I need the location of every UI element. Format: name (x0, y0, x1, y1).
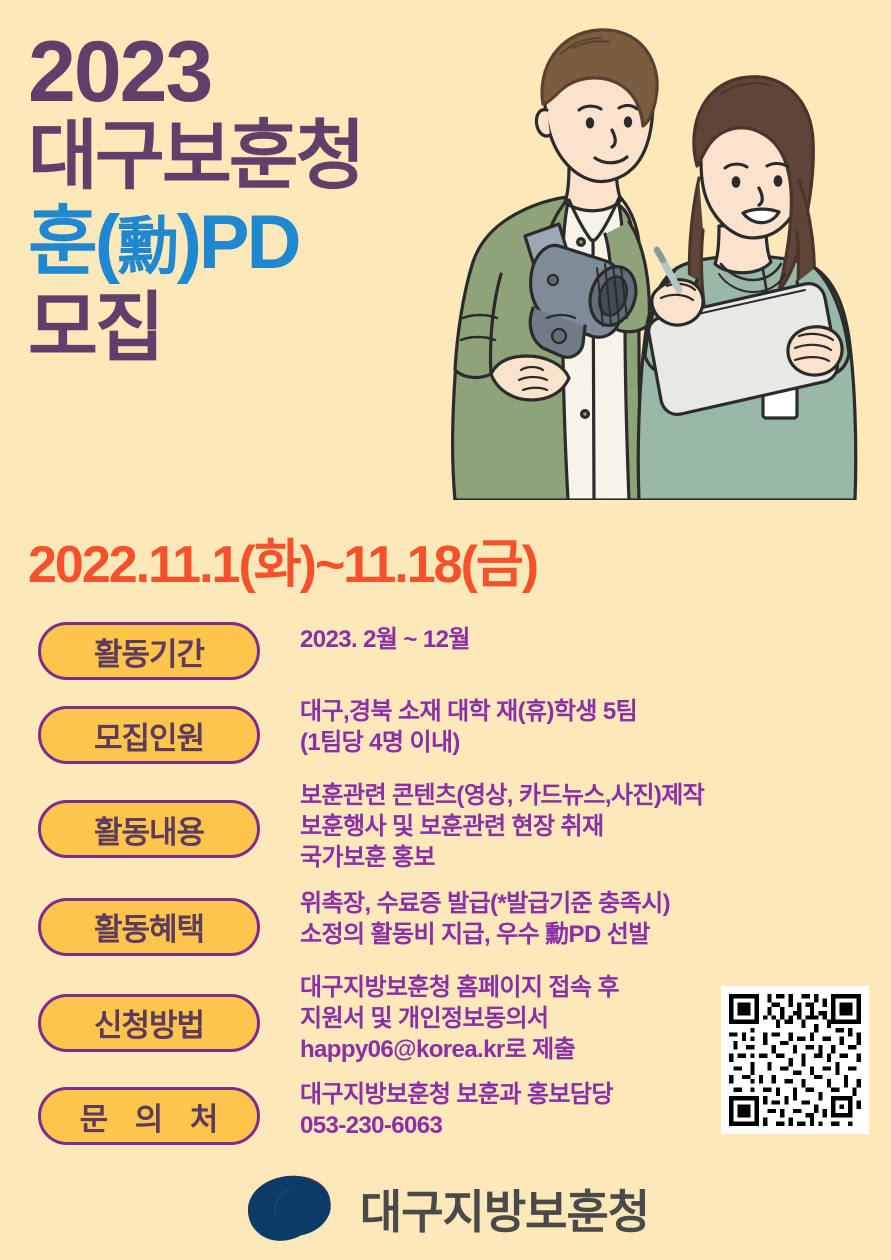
info-row-activities: 활동내용 보훈관련 콘텐츠(영상, 카드뉴스,사진)제작 보훈행사 및 보훈관련… (38, 778, 868, 874)
government-taegeuk-logo (242, 1172, 334, 1246)
footer-organization-name: 대구지방보훈청 (360, 1176, 649, 1242)
pill-label-duration: 활동기간 (38, 622, 260, 680)
footer: 대구지방보훈청 (0, 1172, 891, 1246)
info-line: 보훈관련 콘텐츠(영상, 카드뉴스,사진)제작 (300, 780, 868, 811)
info-line: 보훈행사 및 보훈관련 현장 취재 (300, 811, 868, 842)
info-body-benefits: 위촉장, 수료증 발급(*발급기준 충족시) 소정의 활동비 지급, 우수 勳P… (260, 886, 868, 950)
pill-label-activities: 활동내용 (38, 800, 260, 858)
headline-year: 2023 (28, 30, 548, 114)
info-line: 대구,경북 소재 대학 재(휴)학생 5팀 (300, 696, 868, 727)
info-line: 국가보훈 홍보 (300, 842, 868, 873)
headline-line-recruit: 모집 (28, 286, 548, 372)
info-body-duration: 2023. 2월 ~ 12월 (260, 622, 868, 655)
info-row-benefits: 활동혜택 위촉장, 수료증 발급(*발급기준 충족시) 소정의 활동비 지급, … (38, 886, 868, 956)
info-line: 위촉장, 수료증 발급(*발급기준 충족시) (300, 888, 868, 919)
info-body-headcount: 대구,경북 소재 대학 재(휴)학생 5팀 (1팀당 4명 이내) (260, 694, 868, 758)
poster-canvas: 2023 대구보훈청 훈(勳)PD 모집 2022.11.1(화)~11.18(… (0, 0, 891, 1260)
info-line: 2023. 2월 ~ 12월 (300, 624, 868, 655)
headline-line-program: 훈(勳)PD (28, 200, 548, 286)
info-row-duration: 활동기간 2023. 2월 ~ 12월 (38, 622, 868, 680)
pill-label-contact: 문 의 처 (38, 1087, 260, 1145)
info-line: (1팀당 4명 이내) (300, 727, 868, 758)
headline-block: 2023 대구보훈청 훈(勳)PD 모집 (28, 30, 548, 372)
info-body-activities: 보훈관련 콘텐츠(영상, 카드뉴스,사진)제작 보훈행사 및 보훈관련 현장 취… (260, 778, 868, 874)
headline-hanja: 勳 (117, 210, 176, 283)
pill-label-benefits: 활동혜택 (38, 898, 260, 956)
qr-code[interactable] (721, 986, 869, 1134)
application-period-date: 2022.11.1(화)~11.18(금) (28, 522, 537, 597)
headline-line-org: 대구보훈청 (28, 114, 548, 200)
info-row-headcount: 모집인원 대구,경북 소재 대학 재(휴)학생 5팀 (1팀당 4명 이내) (38, 694, 868, 764)
pill-label-apply: 신청방법 (38, 994, 260, 1052)
info-line: 소정의 활동비 지급, 우수 勳PD 선발 (300, 919, 868, 950)
pill-label-headcount: 모집인원 (38, 706, 260, 764)
headline-suffix: )PD (177, 200, 299, 285)
headline-prefix: 훈( (28, 200, 117, 285)
